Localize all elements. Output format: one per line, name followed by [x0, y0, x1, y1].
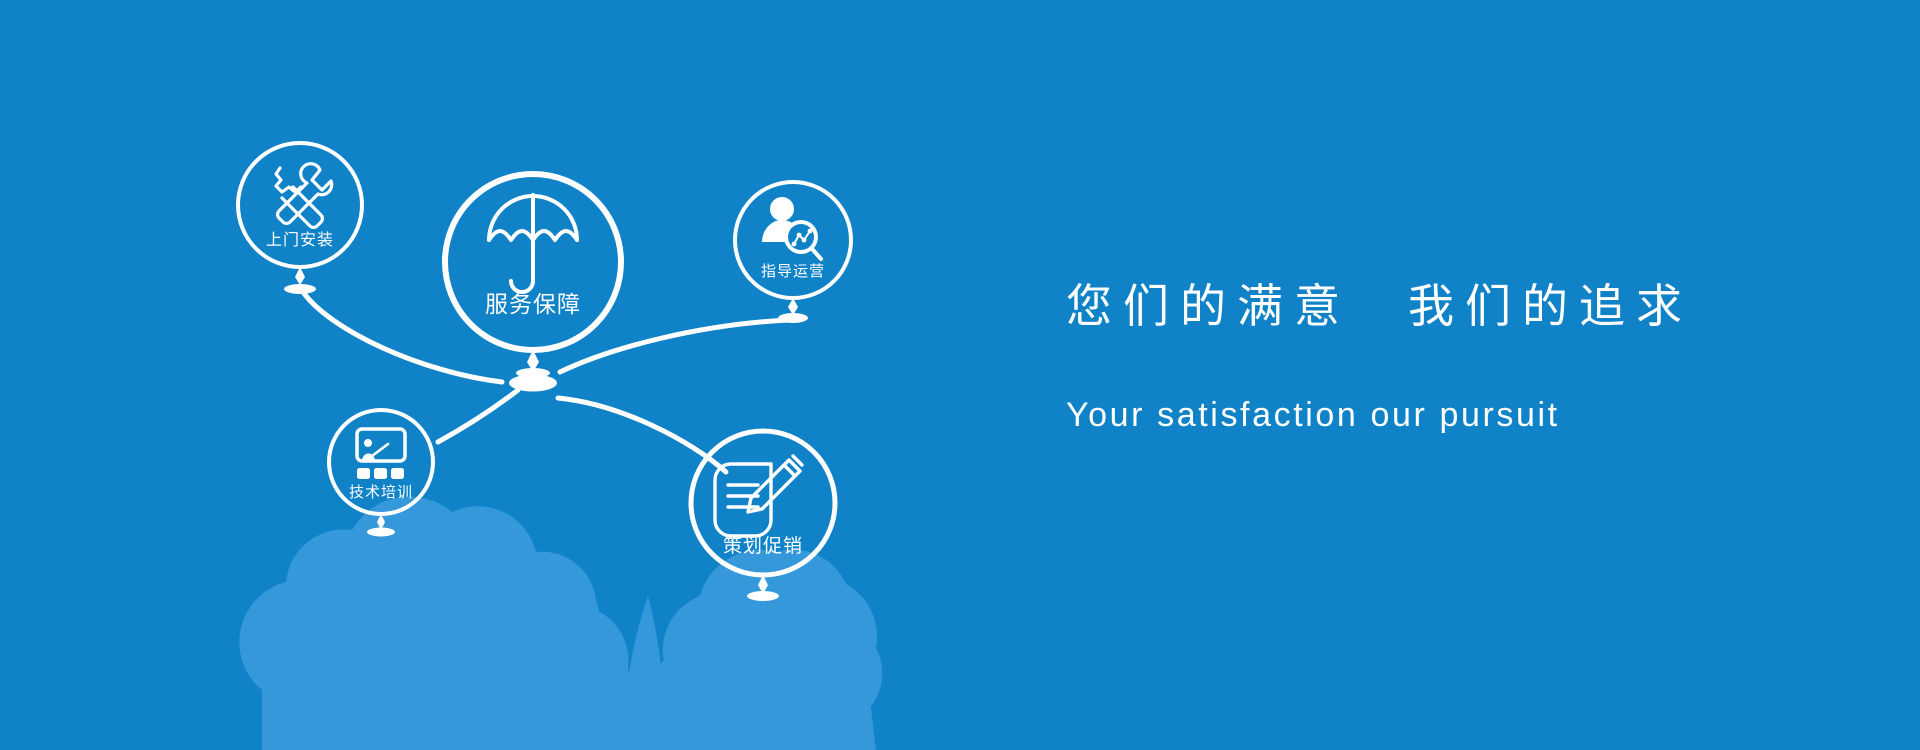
node-guidance-operations[interactable]: 指导运营	[735, 182, 851, 323]
tagline-block: 您们的满意 我们的追求 Your satisfaction our pursui…	[1066, 276, 1826, 439]
hammer-wrench-icon	[276, 164, 332, 228]
node-label: 服务保障	[485, 291, 581, 317]
umbrella-icon	[489, 195, 577, 292]
connector-installation	[303, 292, 502, 382]
tagline-chinese: 您们的满意 我们的追求	[1066, 276, 1826, 336]
connector-training	[438, 390, 518, 442]
connector-promotion	[558, 398, 726, 472]
classroom-training-icon	[357, 429, 405, 479]
node-service-guarantee[interactable]: 服务保障	[445, 174, 621, 378]
node-label: 上门安装	[266, 231, 334, 249]
service-banner: 上门安装 服务保障	[0, 0, 1920, 750]
node-technical-training[interactable]: 技术培训	[329, 410, 433, 537]
person-search-icon	[762, 197, 821, 259]
node-planning-promotion[interactable]: 策划促销	[691, 431, 835, 601]
node-label: 指导运营	[761, 263, 825, 280]
node-label: 技术培训	[349, 484, 413, 501]
tagline-english: Your satisfaction our pursuit	[1066, 391, 1826, 439]
document-pencil-icon	[715, 456, 802, 536]
node-label: 策划促销	[723, 535, 803, 557]
node-on-site-installation[interactable]: 上门安装	[238, 143, 362, 294]
